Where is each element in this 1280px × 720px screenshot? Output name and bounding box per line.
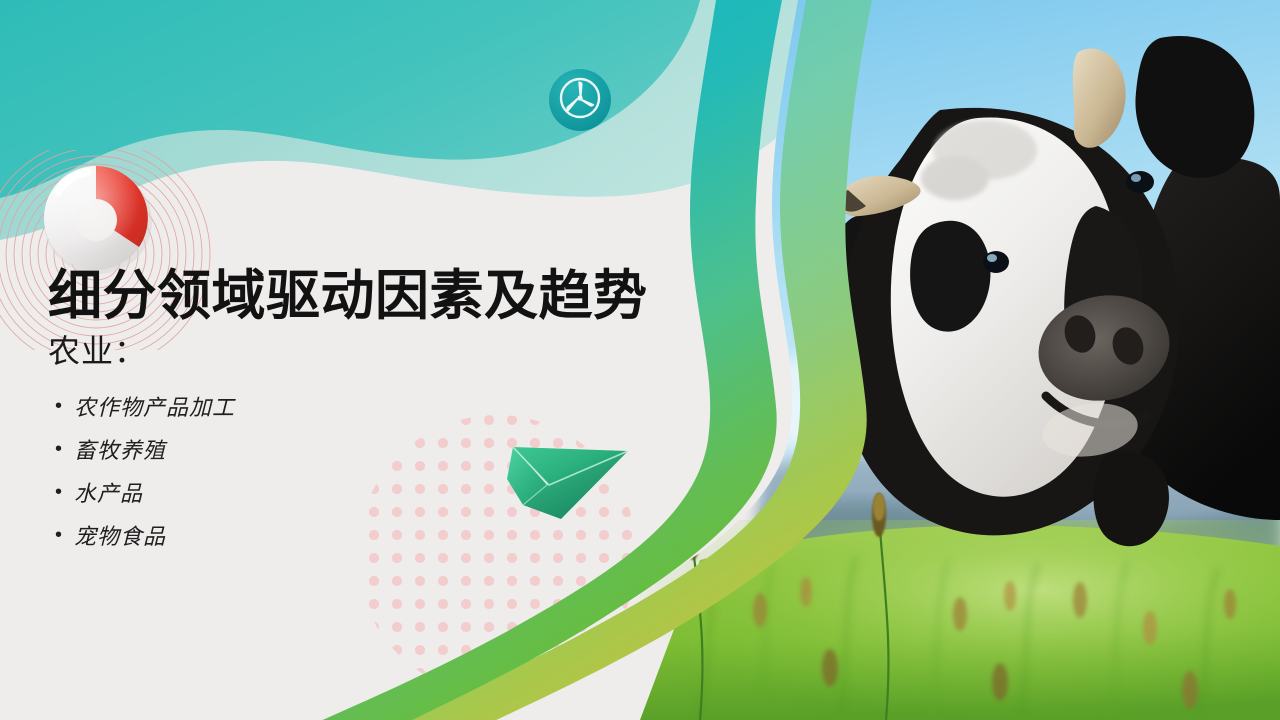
wind-turbine-badge-icon[interactable]	[544, 64, 616, 136]
list-item-label: 水产品	[74, 476, 143, 508]
list-item: • 宠物食品	[48, 514, 688, 557]
bullet-marker-icon: •	[48, 439, 74, 459]
slide-text-block: 细分领域驱动因素及趋势 农业： • 农作物产品加工 • 畜牧养殖 • 水产品 •…	[48, 266, 688, 557]
list-item: • 畜牧养殖	[48, 428, 688, 471]
list-item: • 农作物产品加工	[48, 385, 688, 428]
section-subtitle: 农业：	[48, 332, 688, 370]
bullet-marker-icon: •	[48, 525, 74, 545]
page-title: 细分领域驱动因素及趋势	[48, 266, 688, 326]
bullet-marker-icon: •	[48, 482, 74, 502]
presentation-slide: 细分领域驱动因素及趋势 农业： • 农作物产品加工 • 畜牧养殖 • 水产品 •…	[0, 0, 1280, 720]
bullet-list: • 农作物产品加工 • 畜牧养殖 • 水产品 • 宠物食品	[48, 385, 688, 557]
list-item-label: 农作物产品加工	[74, 390, 235, 422]
list-item-label: 宠物食品	[74, 519, 166, 551]
list-item-label: 畜牧养殖	[74, 433, 166, 465]
list-item: • 水产品	[48, 471, 688, 514]
bullet-marker-icon: •	[48, 396, 74, 416]
